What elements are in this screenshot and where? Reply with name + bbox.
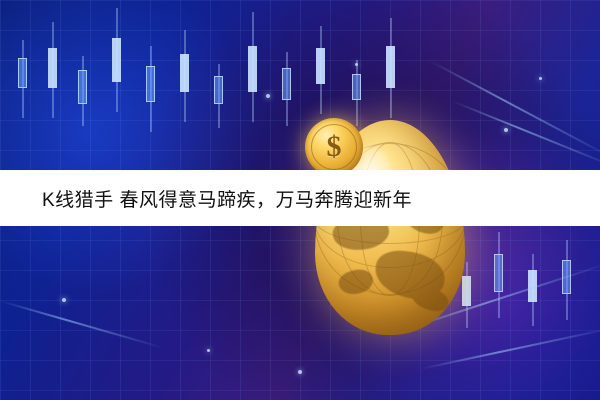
candlestick: [146, 46, 155, 132]
sparkle: [504, 128, 508, 132]
candlestick: [282, 52, 291, 126]
sparkle: [207, 349, 210, 352]
candle-body: [112, 38, 121, 82]
candle-body: [386, 46, 395, 88]
candlestick: [562, 240, 571, 320]
candle-body: [462, 276, 471, 306]
candle-body: [282, 68, 291, 100]
promo-banner-image: $ K线猎手 春风得意马蹄疾，万马奔腾迎新年: [0, 0, 600, 400]
candlestick: [112, 8, 121, 112]
candlestick: [180, 30, 189, 122]
sparkle: [539, 77, 542, 80]
candle-body: [180, 54, 189, 92]
coin-rim: $: [311, 124, 357, 170]
candle-body: [352, 74, 361, 100]
gold-coin: $: [305, 118, 363, 176]
candlestick: [48, 22, 57, 118]
candlestick: [462, 262, 471, 328]
candle-body: [316, 48, 325, 84]
candle-body: [48, 48, 57, 88]
candlestick: [248, 12, 257, 122]
candle-body: [494, 254, 503, 292]
candlestick: [78, 56, 87, 126]
sparkle: [62, 298, 66, 302]
candlestick: [386, 18, 395, 118]
candle-body: [248, 46, 257, 92]
sparkle: [298, 370, 302, 374]
sparkle: [266, 94, 270, 98]
candle-body: [146, 66, 155, 102]
headline-text: K线猎手 春风得意马蹄疾，万马奔腾迎新年: [0, 170, 600, 226]
dollar-sign-icon: $: [327, 132, 342, 162]
candlestick: [352, 60, 361, 126]
candlestick: [316, 26, 325, 114]
candle-body: [18, 58, 27, 88]
candle-body: [214, 76, 223, 104]
candle-body: [78, 70, 87, 104]
candlestick: [494, 232, 503, 318]
candlestick: [214, 64, 223, 128]
sparkle: [355, 63, 358, 66]
candlestick: [18, 40, 27, 118]
